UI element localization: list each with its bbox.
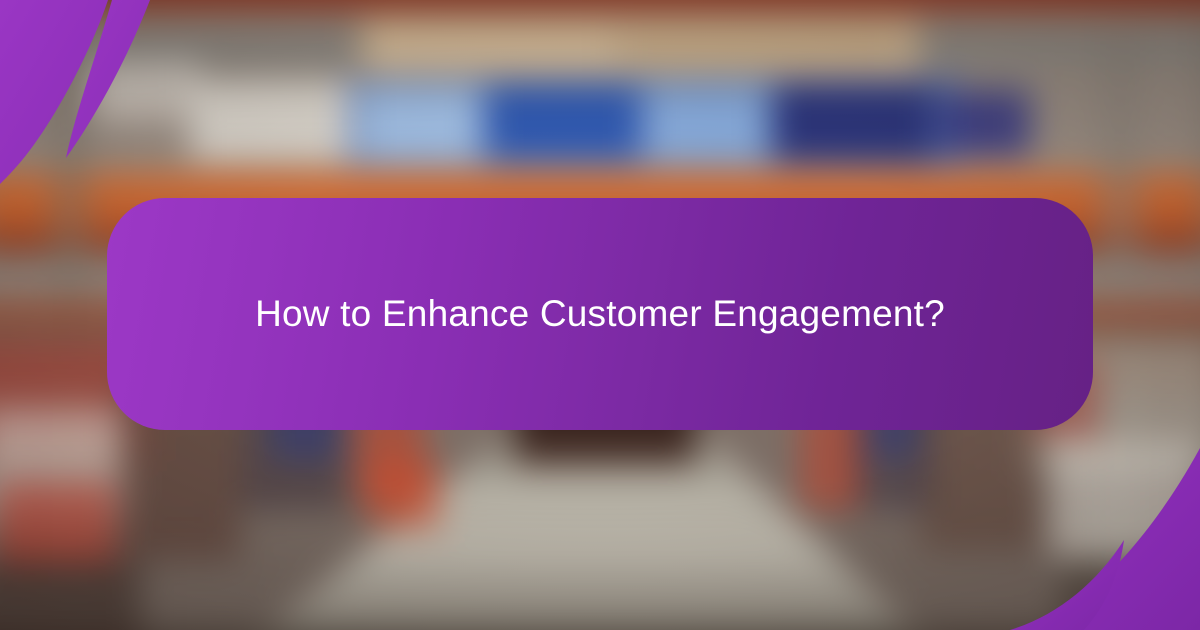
social-share-banner: How to Enhance Customer Engagement? (0, 0, 1200, 630)
page-title: How to Enhance Customer Engagement? (255, 291, 945, 337)
title-card: How to Enhance Customer Engagement? (107, 198, 1093, 430)
